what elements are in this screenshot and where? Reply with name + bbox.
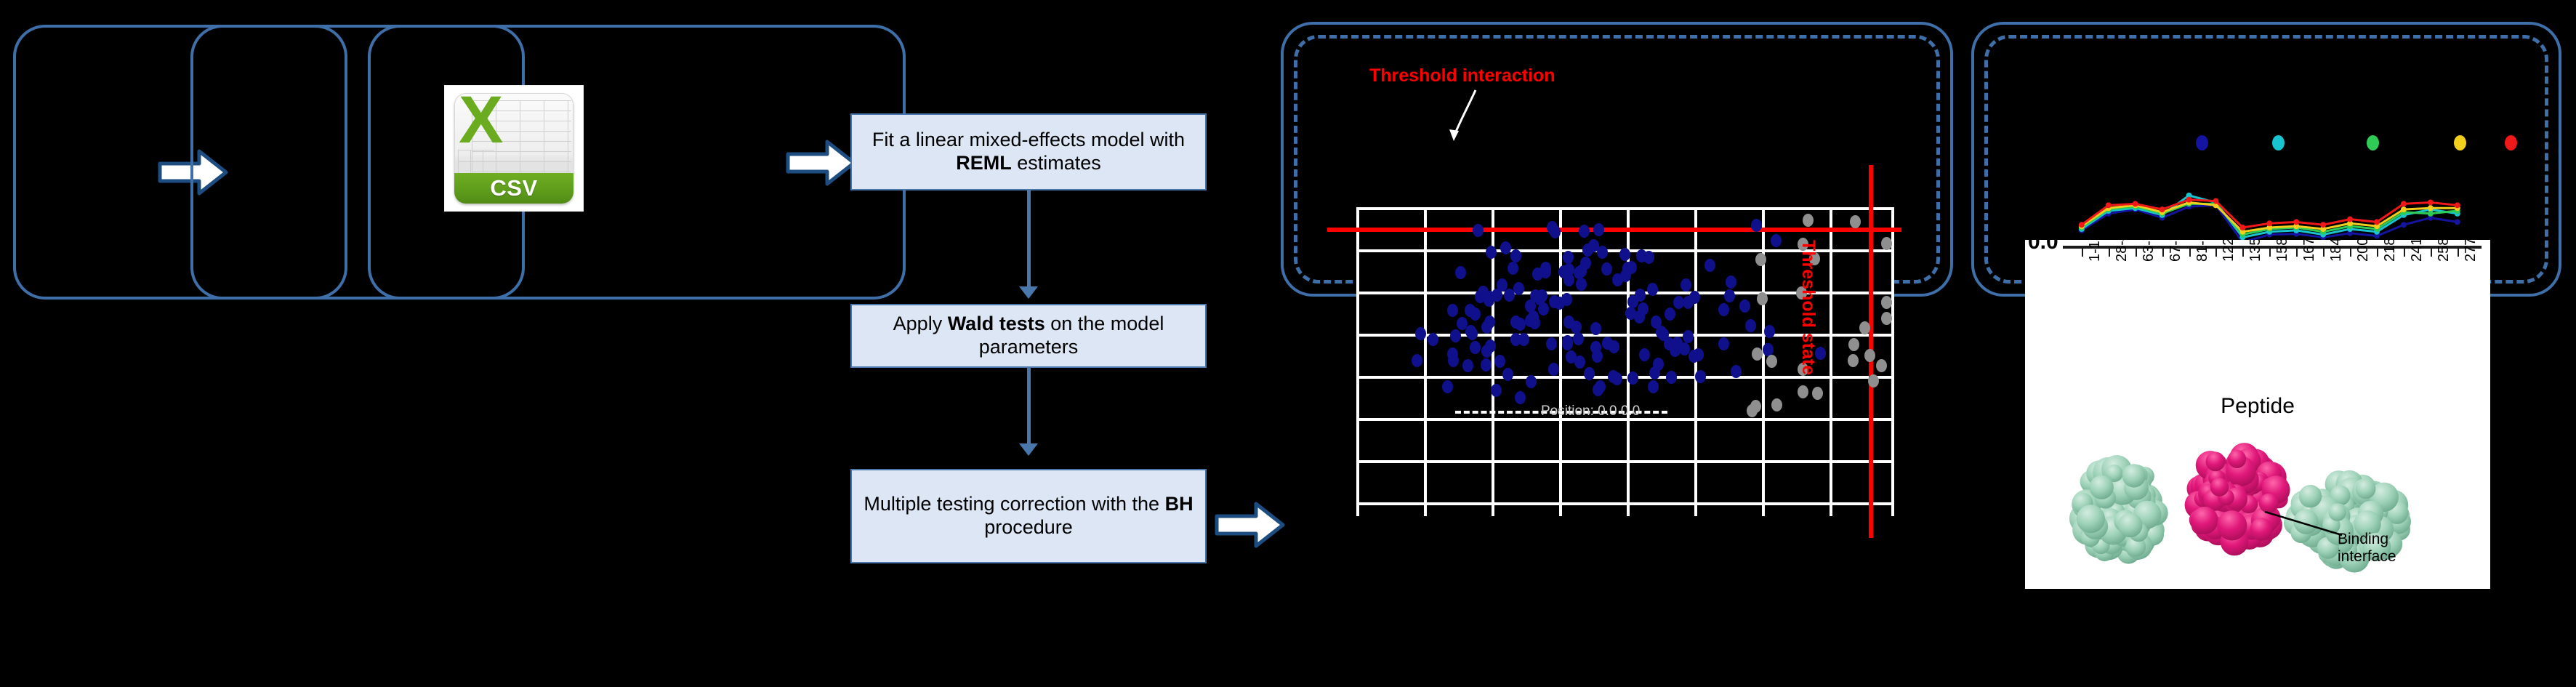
volcano-point [1593, 383, 1603, 396]
protein-surface-atom [2217, 510, 2247, 540]
volcano-point [1859, 321, 1870, 334]
volcano-point [1751, 219, 1762, 232]
volcano-point [1515, 391, 1526, 404]
volcano-point [1526, 375, 1537, 388]
peptide-tick-label: 167-180 [2301, 240, 2318, 262]
step-box-bh-correction[interactable]: Multiple testing correction with the BH … [850, 469, 1207, 563]
volcano-point [1481, 321, 1492, 334]
volcano-point [1757, 292, 1768, 305]
peptide-line-chart[interactable] [2025, 172, 2490, 247]
peptide-series-marker [2079, 222, 2085, 228]
peptide-series-marker [2455, 202, 2460, 208]
volcano-point [1771, 234, 1782, 247]
step-3-text: Multiple testing correction with the BH … [859, 493, 1198, 539]
volcano-point [1492, 289, 1502, 302]
stats-panel [368, 25, 906, 300]
volcano-point [1573, 332, 1584, 345]
volcano-point [1881, 312, 1892, 325]
volcano-point [1803, 214, 1814, 227]
volcano-point [1612, 273, 1623, 286]
peptide-series-marker [2320, 222, 2326, 228]
volcano-point [1683, 330, 1694, 343]
volcano-point [1473, 224, 1484, 237]
volcano-point [1664, 337, 1675, 350]
peptide-tick [2215, 249, 2217, 257]
volcano-point [1739, 300, 1750, 313]
peptide-legend-dot [2454, 135, 2466, 150]
peptide-series-marker [2455, 219, 2460, 225]
connector-step2-step3 [1027, 368, 1031, 443]
volcano-point [1412, 354, 1422, 367]
threshold-interaction-label: Threshold interaction [1369, 65, 1555, 87]
peptide-series-marker [2160, 206, 2165, 212]
volcano-point [1470, 341, 1481, 354]
volcano-point [1447, 304, 1458, 317]
volcano-point [1635, 289, 1646, 302]
protein-surface-atom [2210, 478, 2229, 497]
peptide-series-marker [2428, 211, 2434, 217]
peptide-x-axis-label: Peptide [2025, 394, 2490, 419]
volcano-point [1491, 384, 1502, 397]
protein-surface-atom [2122, 465, 2146, 488]
peptide-tick [2269, 249, 2271, 257]
threshold-interaction-arrow [1439, 87, 1483, 144]
protein-surface-atom [2090, 475, 2114, 499]
peptide-tick [2377, 249, 2378, 257]
volcano-point [1563, 263, 1574, 276]
peptide-series-marker [2374, 219, 2380, 225]
volcano-position-readout: Position: 0.0 0.0 [1541, 403, 1640, 419]
volcano-point [1881, 296, 1892, 309]
volcano-point [1462, 359, 1473, 372]
peptide-tick [2242, 249, 2244, 257]
peptide-legend-dot [2367, 135, 2379, 150]
volcano-point [1876, 359, 1887, 372]
volcano-point [1745, 319, 1756, 332]
protein-surface-atom [2228, 450, 2246, 468]
peptide-series-marker [2239, 225, 2245, 230]
volcano-point [1574, 355, 1585, 369]
volcano-point [1588, 239, 1599, 252]
peptide-tick [2296, 249, 2298, 257]
volcano-point [1766, 355, 1777, 368]
peptide-tick-label: 277-284 [2463, 240, 2479, 262]
volcano-point [1508, 262, 1518, 275]
volcano-point [1563, 316, 1574, 329]
peptide-tick-label: 200-214 [2355, 240, 2372, 262]
volcano-point [1550, 225, 1561, 238]
peptide-tick [2082, 249, 2083, 257]
volcano-point [1494, 355, 1505, 368]
volcano-point [1868, 374, 1879, 387]
protein-surface-atom [2206, 452, 2226, 472]
peptide-tick [2350, 249, 2351, 257]
volcano-point [1428, 333, 1438, 346]
volcano-point [1718, 337, 1729, 350]
peptide-tick-label: 241-257 [2409, 240, 2426, 262]
peptide-tick [2136, 249, 2137, 257]
protein-surface-atom [2356, 479, 2376, 499]
volcano-point [1681, 278, 1691, 292]
volcano-point [1510, 333, 1521, 346]
peptide-series-marker [2186, 197, 2192, 203]
binding-interface-leader-line [2263, 510, 2345, 538]
peptide-y-zero-label: 0.0 [2028, 240, 2058, 254]
volcano-point [1812, 387, 1823, 400]
volcano-point [1864, 349, 1875, 362]
volcano-point [1622, 262, 1633, 275]
peptide-series-marker [2428, 205, 2434, 211]
volcano-point [1548, 363, 1559, 376]
protein-surface-atom [2191, 507, 2218, 534]
volcano-point [1608, 370, 1619, 383]
protein-surface-atom [2077, 505, 2105, 533]
volcano-point [1665, 308, 1675, 321]
peptide-series-marker [2213, 198, 2218, 204]
peptide-tick [2109, 249, 2110, 257]
threshold-interaction-line [1327, 228, 1901, 232]
volcano-point [1584, 367, 1595, 380]
volcano-point [1683, 296, 1694, 309]
volcano-point [1510, 249, 1521, 262]
peptide-series-marker [2401, 222, 2407, 228]
volcano-point [1724, 289, 1735, 302]
volcano-point [1601, 262, 1612, 276]
step-2-text: Apply Wald tests on the model parameters [859, 313, 1198, 359]
volcano-point [1673, 296, 1684, 309]
peptide-line-chart-svg [2025, 172, 2490, 247]
connector-step1-step2-arrowhead [1019, 286, 1038, 299]
peptide-series-marker [2401, 201, 2407, 206]
volcano-point [1639, 348, 1650, 361]
peptide-series-marker [2266, 220, 2272, 226]
peptide-series-marker [2347, 217, 2353, 222]
volcano-point [1448, 354, 1459, 367]
volcano-point [1442, 380, 1453, 393]
volcano-point [1755, 253, 1766, 266]
peptide-tick-label: 67-75 [2168, 240, 2184, 262]
peptide-series-marker [2428, 199, 2434, 205]
peptide-tick [2162, 249, 2164, 257]
peptide-tick-label: 184-199 [2328, 240, 2345, 262]
binding-interface-line2: interface [2338, 548, 2396, 566]
peptide-series-marker [2401, 206, 2407, 212]
volcano-point [1731, 365, 1742, 378]
connector-step1-step2 [1027, 190, 1031, 286]
volcano-point [1502, 368, 1513, 381]
peptide-tick-label: 1-15 [2087, 240, 2104, 262]
volcano-point [1529, 316, 1540, 329]
volcano-point [1625, 307, 1636, 320]
peptide-series-marker [2106, 202, 2112, 208]
volcano-point [1590, 322, 1601, 335]
step-1-text: Fit a linear mixed-effects model with RE… [859, 129, 1198, 175]
volcano-point [1726, 276, 1736, 289]
peptide-tick-label: 28-44 [2114, 240, 2130, 262]
volcano-point [1693, 348, 1704, 361]
volcano-point [1771, 398, 1782, 411]
volcano-point [1752, 347, 1763, 361]
volcano-point [1515, 318, 1526, 331]
volcano-point [1579, 225, 1590, 238]
volcano-point [1561, 293, 1572, 306]
volcano-point [1648, 380, 1659, 393]
volcano-point [1718, 303, 1729, 316]
volcano-point [1481, 358, 1492, 371]
peptide-series-marker [2133, 201, 2138, 206]
volcano-point [1750, 400, 1761, 413]
step-box-fit-model[interactable]: Fit a linear mixed-effects model with RE… [850, 113, 1207, 190]
protein-surface-atom [2299, 485, 2322, 507]
volcano-point [1500, 241, 1511, 254]
volcano-point [1627, 371, 1638, 385]
peptide-tick [2189, 249, 2191, 257]
peptide-tick [2404, 249, 2405, 257]
volcano-point [1455, 266, 1466, 279]
volcano-point [1609, 340, 1619, 353]
peptide-tick-label: 135-144 [2247, 240, 2264, 262]
volcano-point [1549, 295, 1560, 308]
peptide-series-marker [2293, 219, 2299, 225]
volcano-point [1848, 354, 1859, 367]
volcano-point [1881, 237, 1892, 250]
peptide-tick-label: 122-129 [2221, 240, 2237, 262]
volcano-point [1486, 246, 1497, 259]
peptide-legend [2025, 135, 2490, 157]
threshold-state-label: Threshold state [1798, 240, 1819, 375]
volcano-point [1850, 215, 1861, 228]
volcano-point [1563, 251, 1574, 264]
peptide-tick [2323, 249, 2325, 257]
volcano-point [1666, 371, 1677, 384]
step-box-wald-tests[interactable]: Apply Wald tests on the model parameters [850, 304, 1207, 368]
binding-interface-line1: Binding [2338, 531, 2396, 548]
peptide-tick-label: 63-73 [2141, 240, 2157, 262]
volcano-point [1651, 316, 1662, 329]
volcano-point [1704, 259, 1715, 272]
peptide-legend-dot [2505, 135, 2517, 150]
volcano-point [1540, 262, 1551, 275]
volcano-point [1576, 278, 1587, 291]
volcano-point [1695, 370, 1706, 383]
peptide-figure-card: 0.0 Peptide [2025, 240, 2490, 589]
volcano-point [1647, 283, 1658, 296]
volcano-point [1848, 338, 1859, 351]
volcano-point [1653, 358, 1664, 371]
peptide-legend-dot [2272, 135, 2285, 150]
peptide-tick-label: 258-266 [2436, 240, 2452, 262]
volcano-point [1798, 385, 1808, 398]
peptide-tick-label: 81-101 [2194, 240, 2211, 262]
volcano-point [1450, 329, 1461, 342]
binding-interface-annotation: Binding interface [2338, 531, 2396, 565]
peptide-tick [2431, 249, 2432, 257]
peptide-legend-dot [2196, 135, 2208, 150]
protein-surface-atom [2118, 513, 2143, 538]
connector-step2-step3-arrowhead [1019, 443, 1038, 456]
peptide-tick-label: 158-166 [2274, 240, 2291, 262]
figure-canvas: X CSV Fit a linear mixed-effects model w… [0, 0, 2576, 687]
volcano-point [1593, 223, 1604, 236]
volcano-point [1478, 286, 1489, 299]
peptide-tick [2458, 249, 2459, 257]
volcano-point [1546, 337, 1557, 350]
peptide-tick-label: 218-237 [2382, 240, 2399, 262]
